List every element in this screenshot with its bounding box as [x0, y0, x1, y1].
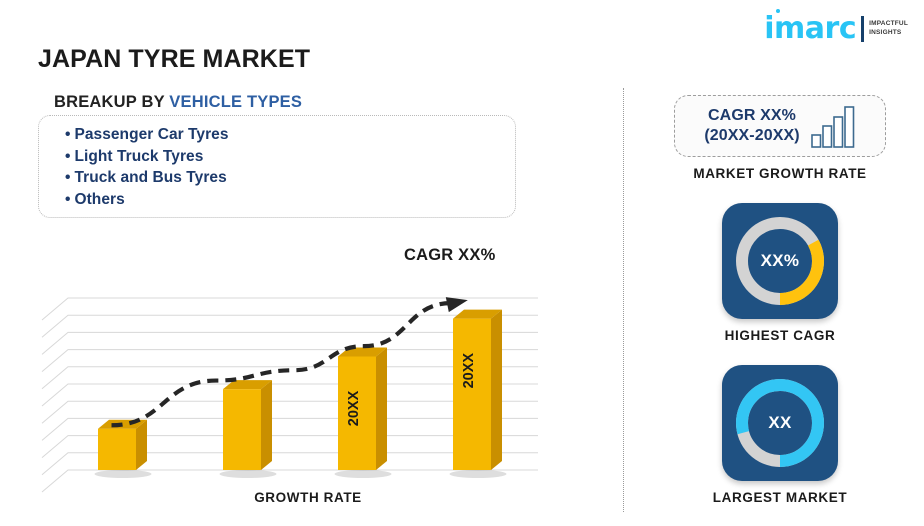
list-item-label: Passenger Car Tyres	[74, 126, 228, 143]
list-item-label: Truck and Bus Tyres	[74, 169, 226, 186]
logo-tagline: IMPACTFUL INSIGHTS	[869, 20, 908, 38]
chart-bar: 20XX	[450, 310, 507, 478]
highest-cagr-block: XX% HIGHEST CAGR	[660, 203, 900, 343]
list-item: •Truck and Bus Tyres	[65, 167, 515, 189]
imarc-logo: imarc IMPACTFUL INSIGHTS	[764, 14, 908, 44]
bullet-icon: •	[65, 126, 70, 143]
cagr-box: CAGR XX% (20XX-20XX)	[674, 95, 886, 157]
growth-bar-chart: 20XX20XX	[38, 255, 578, 495]
list-item: •Light Truck Tyres	[65, 146, 515, 168]
cagr-text: CAGR XX% (20XX-20XX)	[704, 106, 799, 146]
bar-chart-icon	[810, 103, 856, 149]
market-growth-rate-caption: MARKET GROWTH RATE	[660, 166, 900, 181]
largest-market-tile: XX	[722, 365, 838, 481]
breakup-heading-highlight: VEHICLE TYPES	[169, 93, 302, 111]
highest-cagr-tile: XX%	[722, 203, 838, 319]
chart-cagr-annotation: CAGR XX%	[404, 246, 495, 265]
breakup-heading: BREAKUP BY VEHICLE TYPES	[54, 93, 302, 112]
largest-market-block: XX LARGEST MARKET	[660, 365, 900, 505]
chart-x-axis-label: GROWTH RATE	[38, 490, 578, 505]
page-title: JAPAN TYRE MARKET	[38, 45, 310, 74]
logo-wordmark: imarc	[764, 14, 856, 44]
chart-bar	[220, 380, 277, 478]
largest-market-caption: LARGEST MARKET	[660, 490, 900, 505]
chart-trendline	[112, 303, 451, 425]
highest-cagr-value: XX%	[722, 203, 838, 319]
logo-wordmark-text: imarc	[764, 11, 856, 46]
breakup-list-box: •Passenger Car Tyres •Light Truck Tyres …	[38, 115, 516, 218]
right-panel: CAGR XX% (20XX-20XX) MARKET GROWTH RATE	[660, 95, 900, 505]
breakup-heading-prefix: BREAKUP BY	[54, 93, 169, 111]
cagr-line2: (20XX-20XX)	[704, 126, 799, 146]
logo-divider-bar	[861, 16, 864, 42]
chart-bar-label: 20XX	[346, 390, 362, 426]
list-item: •Others	[65, 189, 515, 211]
chart-bar	[95, 420, 152, 478]
bullet-icon: •	[65, 169, 70, 186]
infographic-page: imarc IMPACTFUL INSIGHTS JAPAN TYRE MARK…	[0, 0, 924, 526]
vertical-divider	[623, 88, 624, 512]
bullet-icon: •	[65, 148, 70, 165]
logo-tagline-line1: IMPACTFUL	[869, 20, 908, 29]
list-item-label: Others	[74, 191, 124, 208]
chart-svg: 20XX20XX	[38, 255, 578, 495]
cagr-line1: CAGR XX%	[704, 106, 799, 126]
bullet-icon: •	[65, 191, 70, 208]
list-item: •Passenger Car Tyres	[65, 124, 515, 146]
logo-tagline-line2: INSIGHTS	[869, 29, 908, 38]
highest-cagr-caption: HIGHEST CAGR	[660, 328, 900, 343]
market-growth-rate-block: CAGR XX% (20XX-20XX) MARKET GROWTH RATE	[660, 95, 900, 181]
chart-bar-label: 20XX	[461, 353, 477, 389]
largest-market-value: XX	[722, 365, 838, 481]
list-item-label: Light Truck Tyres	[74, 148, 203, 165]
chart-bar: 20XX	[335, 347, 392, 478]
